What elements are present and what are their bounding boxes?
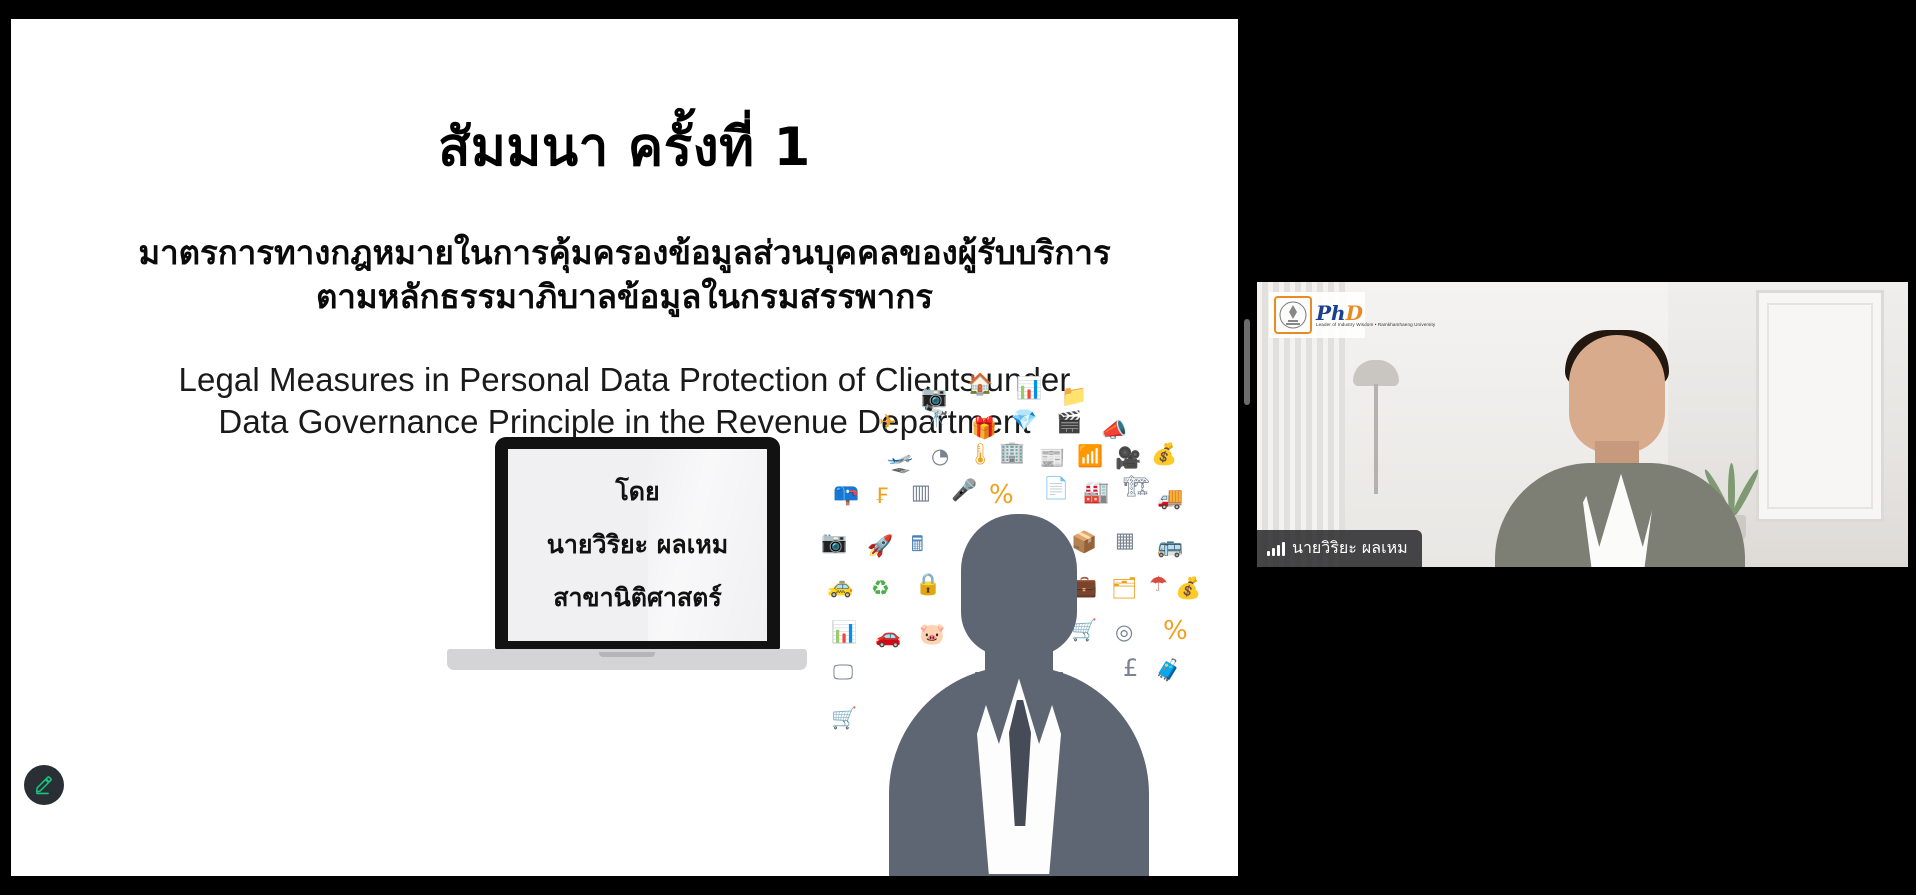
slide-title: สัมมนา ครั้งที่ 1 [11, 119, 1238, 177]
clapboard-icon: 🎬 [1056, 412, 1082, 433]
scrollbar-thumb[interactable] [1244, 319, 1250, 405]
laptop-illustration: โดย นายวิริยะ ผลเหม สาขานิติศาสตร์ [447, 437, 807, 687]
bus-icon: 🚌 [1157, 536, 1183, 557]
diamond-icon: 💎 [1011, 410, 1037, 431]
thai-subtitle-line-1: มาตรการทางกฎหมายในการคุ้มครองข้อมูลส่วนบ… [11, 231, 1238, 275]
slideshow-icon: 🖵 [833, 662, 853, 683]
hand-truck-icon: 🛒 [831, 708, 857, 729]
thai-subtitle-line-2: ตามหลักธรรมาภิบาลข้อมูลในกรมสรรพากร [11, 275, 1238, 319]
taxi-icon: 🚕 [827, 576, 853, 597]
phd-logo-badge: PhD Leader of Industry Wisdom • Ramkhamh… [1269, 292, 1365, 338]
person-silhouette [889, 514, 1149, 876]
silhouette-head [961, 514, 1077, 656]
laptop-screen-line-1: โดย [615, 472, 659, 512]
lamp-pole-decor [1374, 384, 1378, 494]
laptop-screen-line-2: นายวิริยะ ผลเหม [547, 525, 729, 565]
participant-portrait [1495, 335, 1745, 567]
presentation-slide[interactable]: สัมมนา ครั้งที่ 1 มาตรการทางกฎหมายในการค… [11, 19, 1238, 876]
thermometer-icon: 🌡 [967, 444, 994, 465]
home-icon: 🏠 [967, 374, 993, 395]
binoculars-icon: 🔭 [923, 406, 949, 427]
bar-chart-icon: 📊 [1016, 378, 1042, 399]
thai-subtitle-block: มาตรการทางกฎหมายในการคุ้มครองข้อมูลส่วนบ… [11, 231, 1238, 318]
pencil-icon [33, 774, 55, 796]
participant-name-label: นายวิริยะ ผลเหม [1292, 536, 1408, 561]
newspaper-icon: 📰 [1039, 448, 1065, 469]
phd-logo-text: PhD Leader of Industry Wisdom • Ramkhamh… [1316, 303, 1435, 328]
door-decor [1756, 290, 1884, 522]
euro-icon: ₣ [875, 486, 888, 507]
plane-takeoff-icon: 🛫 [887, 452, 913, 473]
cctv-icon: 🎥 [1115, 448, 1141, 469]
crane-icon: 🏗 [1123, 476, 1150, 497]
pie-chart-icon: ◔ [931, 446, 949, 467]
percent-icon: % [989, 482, 1014, 508]
participant-video-tile[interactable]: PhD Leader of Industry Wisdom • Ramkhamh… [1257, 282, 1908, 567]
laptop-trackpad-notch [599, 652, 655, 657]
gift-icon: 🎁 [971, 418, 997, 439]
megaphone-icon: 📣 [1101, 420, 1127, 441]
money-bag-icon: 💰 [1175, 578, 1201, 599]
portrait-head [1569, 335, 1665, 453]
folder-icon: 📁 [1061, 386, 1087, 407]
slide-scrollbar[interactable] [1243, 19, 1251, 876]
mailbox-icon: 📪 [833, 484, 859, 505]
annotate-button[interactable] [24, 765, 64, 805]
office-building-icon: 🏢 [999, 442, 1025, 463]
icon-cloud-artwork: 📷 🏠 📊 📁 ✈ 🔭 🎁 💎 🎬 📣 🛫 ◔ 🌡 🏢 📰 📶 [771, 364, 1181, 876]
screen-share-viewport: สัมมนา ครั้งที่ 1 มาตรการทางกฎหมายในการค… [0, 0, 1916, 895]
laptop-screen: โดย นายวิริยะ ผลเหม สาขานิติศาสตร์ [508, 449, 767, 641]
truck-icon: 🚚 [1157, 488, 1183, 509]
airplane-icon: ✈ [879, 412, 897, 433]
document-icon: 📄 [1043, 478, 1069, 499]
participant-name-badge: นายวิริยะ ผลเหม [1257, 530, 1422, 567]
photo-camera-icon: 📷 [821, 532, 847, 553]
signal-bars-icon [1267, 542, 1285, 556]
histogram-icon: 📊 [831, 622, 857, 643]
university-seal-icon [1274, 296, 1312, 334]
coins-icon: 💰 [1151, 444, 1177, 465]
percent-alt-icon: % [1163, 618, 1188, 644]
recycle-icon: ♻ [871, 578, 890, 599]
laptop-body: โดย นายวิริยะ ผลเหม สาขานิติศาสตร์ [495, 437, 780, 649]
phd-logo-subtitle: Leader of Industry Wisdom • Ramkhamhaeng… [1316, 323, 1435, 328]
luggage-icon: 🧳 [1155, 660, 1181, 681]
signal-chart-icon: 📶 [1077, 446, 1103, 467]
umbrella-icon: ☂ [1149, 574, 1168, 595]
microphone-icon: 🎤 [951, 480, 977, 501]
laptop-screen-line-3: สาขานิติศาสตร์ [553, 578, 722, 618]
warehouse-icon: 🏭 [1083, 482, 1109, 503]
phd-logo-main: PhD [1316, 303, 1435, 323]
barcode-icon: ▥ [911, 482, 931, 503]
